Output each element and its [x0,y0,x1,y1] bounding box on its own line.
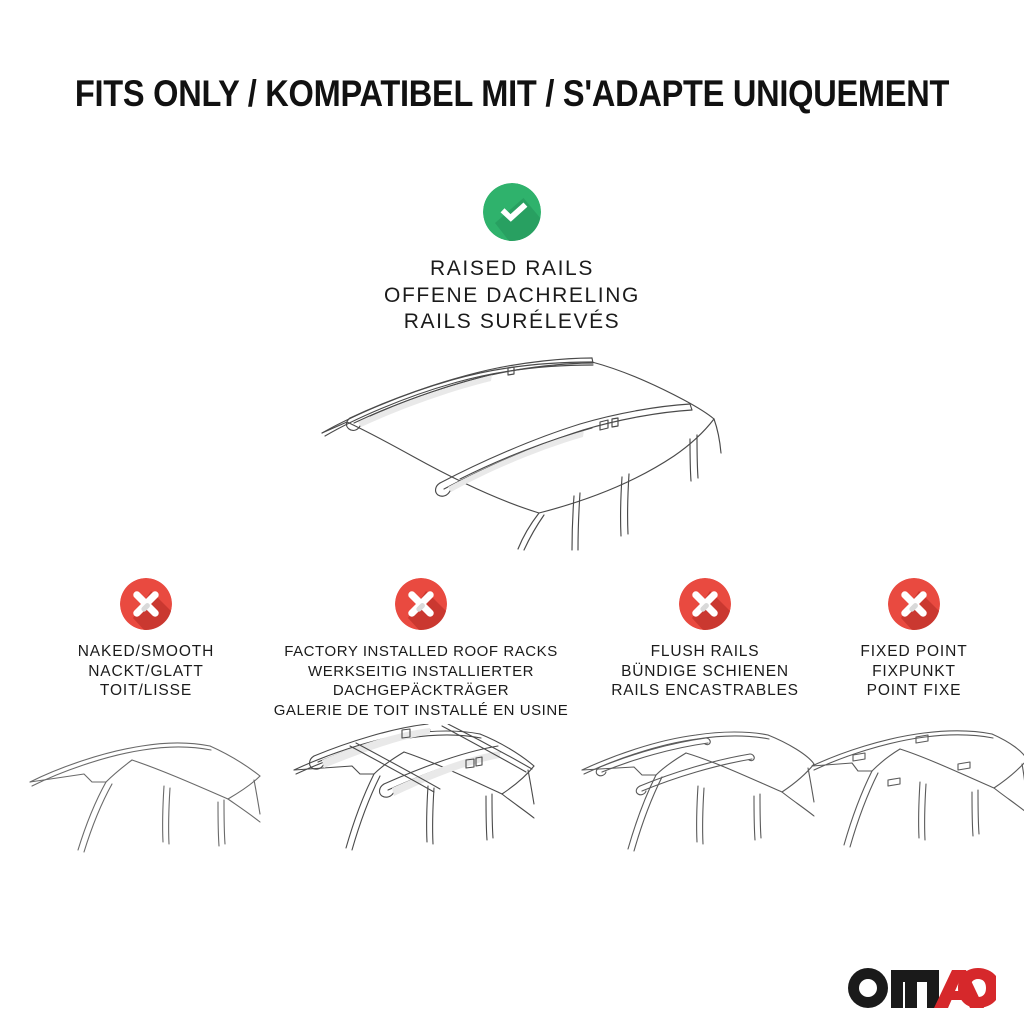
naked-roof-linework [2,724,270,909]
compatible-line-de: OFFENE DACHRELING [262,283,762,310]
caption-line-en: FIXED POINT [834,642,994,662]
caption-line-de: NACKT/GLATT [36,662,256,682]
caption-line-de-2: DACHGEPÄCKTRÄGER [268,681,574,701]
compatible-caption: RAISED RAILS OFFENE DACHRELING RAILS SUR… [262,256,762,336]
fixed-point-linework [796,724,1024,909]
car-roof-naked-smooth-illustration [2,724,270,909]
x-circle-glyph [679,578,731,630]
caption-line-fr: GALERIE DE TOIT INSTALLÉ EN USINE [268,701,574,721]
x-circle-icon [395,578,447,630]
x-circle-icon [120,578,172,630]
caption-line-en: FACTORY INSTALLED ROOF RACKS [268,642,574,662]
x-circle-glyph [395,578,447,630]
page-title: FITS ONLY / KOMPATIBEL MIT / S'ADAPTE UN… [61,72,962,116]
raised-rails-linework [292,350,722,555]
caption-line-fr: RAILS ENCASTRABLES [588,681,822,701]
caption-line-en: FLUSH RAILS [588,642,822,662]
caption-line-en: NAKED/SMOOTH [36,642,256,662]
x-circle-glyph [120,578,172,630]
x-circle-icon [888,578,940,630]
caption-line-de: FIXPUNKT [834,662,994,682]
caption-line-de-1: WERKSEITIG INSTALLIERTER [268,662,574,682]
caption-line-fr: POINT FIXE [834,681,994,701]
car-roof-flush-rails-illustration [566,724,816,909]
car-roof-raised-rails-illustration [292,350,722,555]
x-circle-icon [679,578,731,630]
incompatible-caption-naked-smooth: NAKED/SMOOTH NACKT/GLATT TOIT/LISSE [36,642,256,701]
check-circle-icon [483,183,541,241]
caption-line-fr: TOIT/LISSE [36,681,256,701]
incompatible-caption-flush-rails: FLUSH RAILS BÜNDIGE SCHIENEN RAILS ENCAS… [588,642,822,701]
car-roof-factory-racks-illustration [276,724,556,909]
incompatible-caption-factory-racks: FACTORY INSTALLED ROOF RACKS WERKSEITIG … [268,642,574,720]
check-circle-glyph [483,183,541,241]
flush-rails-linework [566,724,816,909]
car-roof-fixed-point-illustration [796,724,1024,909]
incompatible-caption-fixed-point: FIXED POINT FIXPUNKT POINT FIXE [834,642,994,701]
caption-line-de: BÜNDIGE SCHIENEN [588,662,822,682]
fitment-infographic: FITS ONLY / KOMPATIBEL MIT / S'ADAPTE UN… [0,0,1024,1024]
compatible-line-fr: RAILS SURÉLEVÉS [262,309,762,336]
omac-logo-mark [846,964,996,1010]
x-circle-glyph [888,578,940,630]
factory-racks-linework [276,724,556,909]
omac-logo [846,962,996,1010]
compatible-line-en: RAISED RAILS [262,256,762,283]
